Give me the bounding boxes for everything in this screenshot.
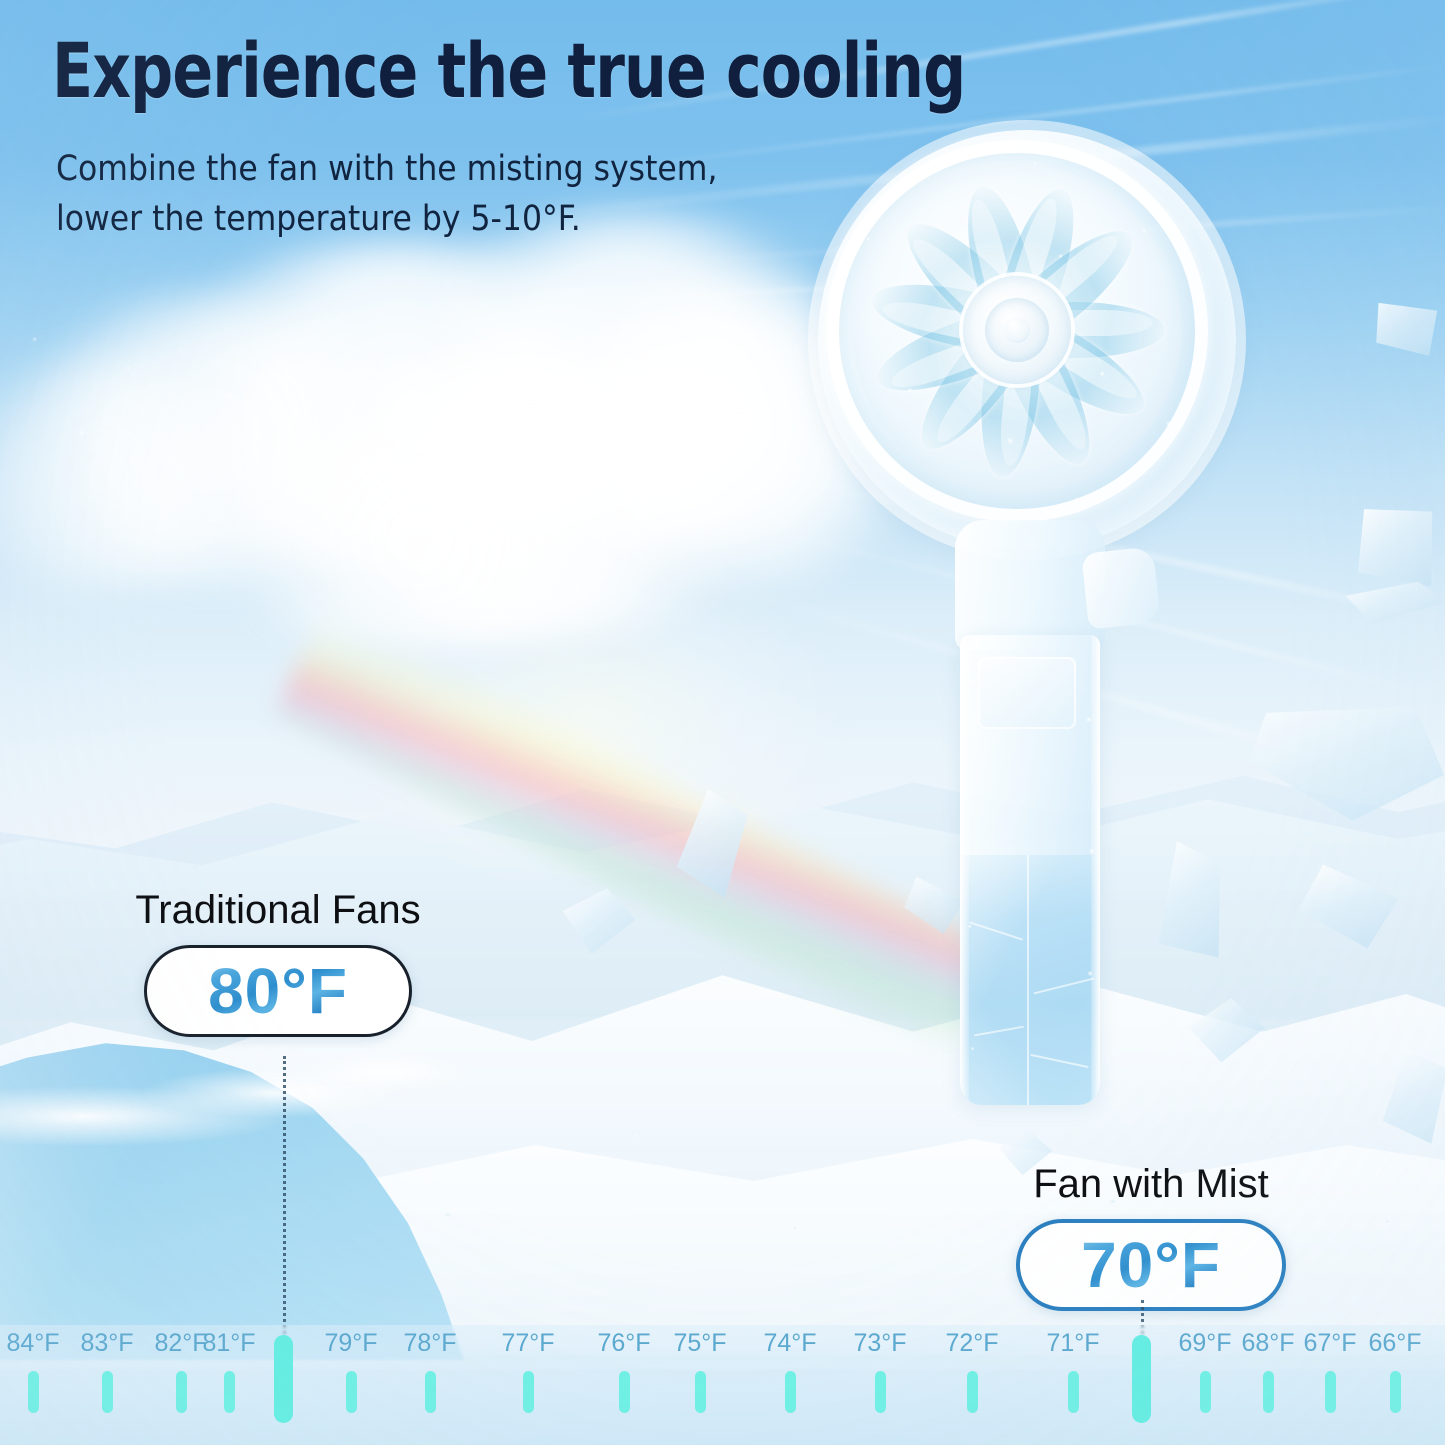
scale-tick-label: 78°F bbox=[392, 1325, 468, 1361]
fan-handle bbox=[960, 635, 1100, 1105]
scale-tick-mark bbox=[523, 1371, 534, 1413]
scale-tick-75: 75°F bbox=[662, 1325, 738, 1413]
scale-tick-72: 72°F bbox=[934, 1325, 1010, 1413]
scale-tick-mark bbox=[875, 1371, 886, 1413]
scale-tick-mark bbox=[28, 1371, 39, 1413]
ice-shard bbox=[1349, 500, 1442, 597]
page-subtitle: Combine the fan with the misting system,… bbox=[56, 145, 718, 244]
scale-tick-mark bbox=[695, 1371, 706, 1413]
scale-tick-label: 72°F bbox=[934, 1325, 1010, 1361]
handheld-misting-fan bbox=[800, 120, 1270, 1170]
callout-label: Fan with Mist bbox=[1006, 1162, 1296, 1207]
scale-tick-mark bbox=[346, 1371, 357, 1413]
scale-tick-label: 74°F bbox=[752, 1325, 828, 1361]
scale-tick-79: 79°F bbox=[313, 1325, 389, 1413]
mist-puff bbox=[0, 290, 420, 590]
cooling-promo-poster: Experience the true cooling Combine the … bbox=[0, 0, 1445, 1445]
fan-rim bbox=[826, 140, 1208, 522]
ice-shard bbox=[674, 786, 750, 899]
scale-tick-66: 66°F bbox=[1357, 1325, 1433, 1413]
callout-fan-with-mist: Fan with Mist 70°F bbox=[1006, 1162, 1296, 1311]
temperature-badge: 80°F bbox=[144, 945, 412, 1037]
scale-tick-label: 75°F bbox=[662, 1325, 738, 1361]
ice-shard bbox=[560, 884, 640, 957]
mist-puff bbox=[180, 430, 660, 650]
scale-tick-marker-active bbox=[274, 1335, 293, 1423]
scale-tick-label: 66°F bbox=[1357, 1325, 1433, 1361]
callout-label: Traditional Fans bbox=[128, 888, 428, 933]
scale-tick-label: 79°F bbox=[313, 1325, 389, 1361]
temperature-badge: 70°F bbox=[1016, 1219, 1286, 1311]
ice-shard bbox=[1372, 297, 1442, 361]
mist-puff bbox=[0, 350, 260, 600]
scale-tick-mark bbox=[1263, 1371, 1274, 1413]
ice-shard bbox=[1244, 690, 1445, 830]
scale-tick-mark bbox=[1390, 1371, 1401, 1413]
fan-hinge bbox=[1081, 546, 1161, 629]
sun-glow bbox=[330, 540, 850, 900]
scale-tick-71: 71°F bbox=[1035, 1325, 1111, 1413]
scale-tick-74: 74°F bbox=[752, 1325, 828, 1413]
scale-tick-mark bbox=[1325, 1371, 1336, 1413]
scale-tick-83: 83°F bbox=[69, 1325, 145, 1413]
scale-tick-77: 77°F bbox=[490, 1325, 566, 1413]
scale-tick-label: 77°F bbox=[490, 1325, 566, 1361]
scale-tick-mark bbox=[619, 1371, 630, 1413]
scale-tick-label: 83°F bbox=[69, 1325, 145, 1361]
scale-tick-mark bbox=[102, 1371, 113, 1413]
scale-tick-mark bbox=[967, 1371, 978, 1413]
scale-tick-76: 76°F bbox=[586, 1325, 662, 1413]
temperature-value: 80°F bbox=[208, 954, 348, 1028]
handle-frost-texture bbox=[960, 635, 1100, 1105]
page-title: Experience the true cooling bbox=[52, 30, 965, 112]
mist-droplets bbox=[0, 260, 760, 620]
scale-tick-label: 84°F bbox=[0, 1325, 71, 1361]
scale-tick-80: 80°F bbox=[245, 1325, 321, 1423]
scale-tick-mark bbox=[1200, 1371, 1211, 1413]
ice-shard bbox=[1381, 1048, 1445, 1145]
scale-tick-label: 73°F bbox=[842, 1325, 918, 1361]
scale-tick-mark bbox=[785, 1371, 796, 1413]
mist-puff bbox=[260, 350, 800, 640]
scale-tick-marker-active bbox=[1132, 1335, 1151, 1423]
scale-tick-label: 71°F bbox=[1035, 1325, 1111, 1361]
fan-neck bbox=[955, 520, 1105, 650]
scale-tick-mark bbox=[176, 1371, 187, 1413]
scale-tick-mark bbox=[1068, 1371, 1079, 1413]
temperature-scale: 84°F83°F82°F81°F80°F79°F78°F77°F76°F75°F… bbox=[0, 1325, 1445, 1445]
scale-tick-mark bbox=[425, 1371, 436, 1413]
scale-tick-label: 76°F bbox=[586, 1325, 662, 1361]
scale-tick-73: 73°F bbox=[842, 1325, 918, 1413]
scale-tick-84: 84°F bbox=[0, 1325, 71, 1413]
ice-shard bbox=[1294, 862, 1402, 953]
mist-puff bbox=[120, 240, 680, 570]
scale-tick-78: 78°F bbox=[392, 1325, 468, 1413]
temperature-value: 70°F bbox=[1081, 1228, 1221, 1302]
callout-traditional-fans: Traditional Fans 80°F bbox=[128, 888, 428, 1037]
temperature-scale-track: 84°F83°F82°F81°F80°F79°F78°F77°F76°F75°F… bbox=[0, 1325, 1445, 1445]
scale-tick-mark bbox=[224, 1371, 235, 1413]
